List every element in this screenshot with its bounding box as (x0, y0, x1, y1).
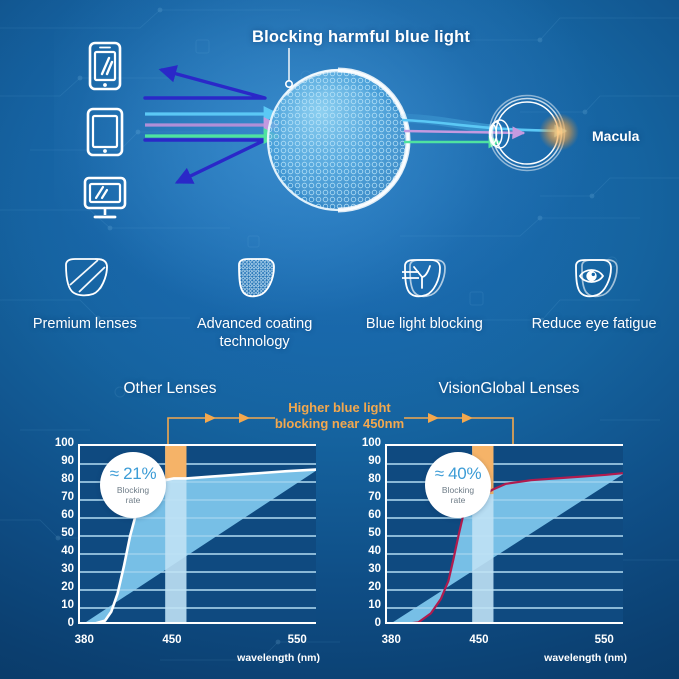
feature-label: Premium lenses (33, 316, 137, 334)
feature-row: Premium lenses Advanced c (0, 252, 679, 364)
badge-caption: Blocking rate (117, 486, 149, 505)
x-axis-title: wavelength (nm) (544, 652, 627, 664)
chart-title: Other Lenses (0, 380, 340, 398)
x-tick-label: 450 (162, 634, 181, 646)
badge-caption-line2: rate (126, 495, 141, 505)
badge-caption-line2: rate (451, 495, 466, 505)
coated-lens (268, 48, 408, 210)
y-tick-label: 40 (368, 546, 381, 558)
y-tick-label: 30 (368, 564, 381, 576)
blocked-area (387, 473, 623, 624)
feature-advanced-coating: Advanced coating technology (170, 252, 340, 364)
y-tick-label: 60 (61, 510, 74, 522)
badge-value: ≈ 40% (435, 465, 482, 482)
y-tick-label: 20 (368, 582, 381, 594)
feature-label: Reduce eye fatigue (532, 316, 657, 334)
y-tick-label: 10 (61, 600, 74, 612)
macula-label: Macula (592, 128, 639, 144)
y-tick-label: 30 (61, 564, 74, 576)
y-tick-label: 90 (368, 456, 381, 468)
charts-section: Higher blue light blocking near 450nm Ot… (0, 370, 679, 679)
y-tick-label: 100 (362, 438, 381, 450)
y-tick-label: 50 (368, 528, 381, 540)
y-axis-labels: 1009080706050403020100 (44, 433, 74, 635)
y-tick-label: 90 (61, 456, 74, 468)
chart-title: VisionGlobal Lenses (339, 380, 679, 398)
y-tick-label: 70 (368, 492, 381, 504)
feature-label: Advanced coating technology (180, 316, 330, 351)
feature-reduce-eye-fatigue: Reduce eye fatigue (509, 252, 679, 364)
y-axis-labels: 1009080706050403020100 (351, 433, 381, 635)
x-axis-labels: 380450550 (78, 630, 316, 650)
premium-lens-icon (57, 252, 113, 304)
blocking-rate-badge: ≈ 40% Blocking rate (425, 452, 491, 518)
chart-other-lenses: Other Lenses 1009080706050403020100 3804… (0, 370, 340, 679)
y-tick-label: 10 (368, 600, 381, 612)
poster-root: Blocking harmful blue light Macula Premi… (0, 0, 679, 679)
plot-area (385, 444, 623, 624)
y-tick-label: 80 (61, 474, 74, 486)
eye-icon (566, 252, 622, 304)
x-tick-label: 380 (382, 634, 401, 646)
y-tick-label: 60 (368, 510, 381, 522)
x-tick-label: 450 (469, 634, 488, 646)
y-tick-label: 0 (375, 618, 381, 630)
y-tick-label: 0 (68, 618, 74, 630)
x-tick-label: 550 (595, 634, 614, 646)
x-axis-labels: 380450550 (385, 630, 623, 650)
badge-caption-line1: Blocking (442, 485, 474, 495)
blue-light-block-icon (396, 252, 452, 304)
x-tick-label: 380 (75, 634, 94, 646)
x-axis-title: wavelength (nm) (237, 652, 320, 664)
y-tick-label: 100 (55, 438, 74, 450)
x-tick-label: 550 (288, 634, 307, 646)
badge-value: ≈ 21% (110, 465, 157, 482)
orange-highlight-cap (165, 446, 186, 478)
y-tick-label: 80 (368, 474, 381, 486)
y-tick-label: 20 (61, 582, 74, 594)
incoming-rays (145, 114, 278, 136)
blocking-rate-badge: ≈ 21% Blocking rate (100, 452, 166, 518)
badge-caption: Blocking rate (442, 486, 474, 505)
chart-visionglobal-lenses: VisionGlobal Lenses 10090807060504030201… (339, 370, 679, 679)
macula-glow (539, 113, 579, 151)
plot-area-wrapper: 1009080706050403020100 380450550 wavelen… (385, 444, 623, 630)
feature-label: Blue light blocking (366, 316, 483, 334)
coating-mesh-icon (227, 252, 283, 304)
badge-caption-line1: Blocking (117, 485, 149, 495)
y-tick-label: 70 (61, 492, 74, 504)
feature-blue-light-blocking: Blue light blocking (340, 252, 510, 364)
hero-title: Blocking harmful blue light (252, 28, 470, 47)
plot-area-wrapper: 1009080706050403020100 380450550 wavelen… (78, 444, 316, 630)
feature-premium-lenses: Premium lenses (0, 252, 170, 364)
y-tick-label: 40 (61, 546, 74, 558)
y-tick-label: 50 (61, 528, 74, 540)
hero-diagram: Blocking harmful blue light Macula (0, 0, 679, 250)
